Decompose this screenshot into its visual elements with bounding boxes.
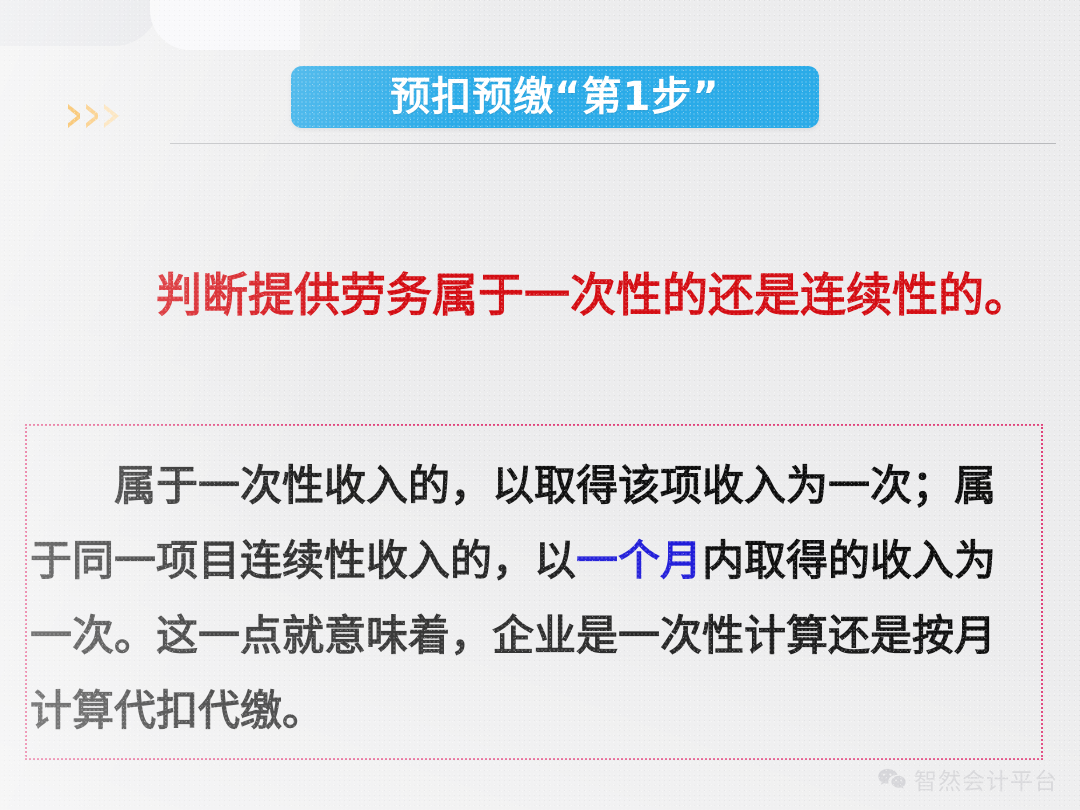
section-heading: 判断提供劳务属于一次性的还是连续性的。 xyxy=(24,262,1058,328)
slide-canvas: 预扣预缴“第1步” 判断提供劳务属于一次性的还是连续性的。 属于一次性收入的，以… xyxy=(0,0,1080,810)
body-text-highlight: 一个月 xyxy=(576,536,702,585)
chevron-right-icon xyxy=(104,104,119,128)
slide-title-badge: 预扣预缴“第1步” xyxy=(291,66,819,128)
background-decoration-block-right xyxy=(150,0,300,50)
page-title: 预扣预缴“第1步” xyxy=(390,77,719,117)
watermark-label: 智然会计平台 xyxy=(914,762,1058,796)
watermark: 智然会计平台 xyxy=(877,762,1058,796)
wechat-logo-icon xyxy=(877,767,907,792)
background-decoration-block-left xyxy=(0,0,160,46)
chevron-decoration-group xyxy=(68,104,119,128)
body-paragraph: 属于一次性收入的，以取得该项收入为一次；属于同一项目连续性收入的，以一个月内取得… xyxy=(30,448,1035,748)
title-underline-divider xyxy=(170,143,1056,144)
